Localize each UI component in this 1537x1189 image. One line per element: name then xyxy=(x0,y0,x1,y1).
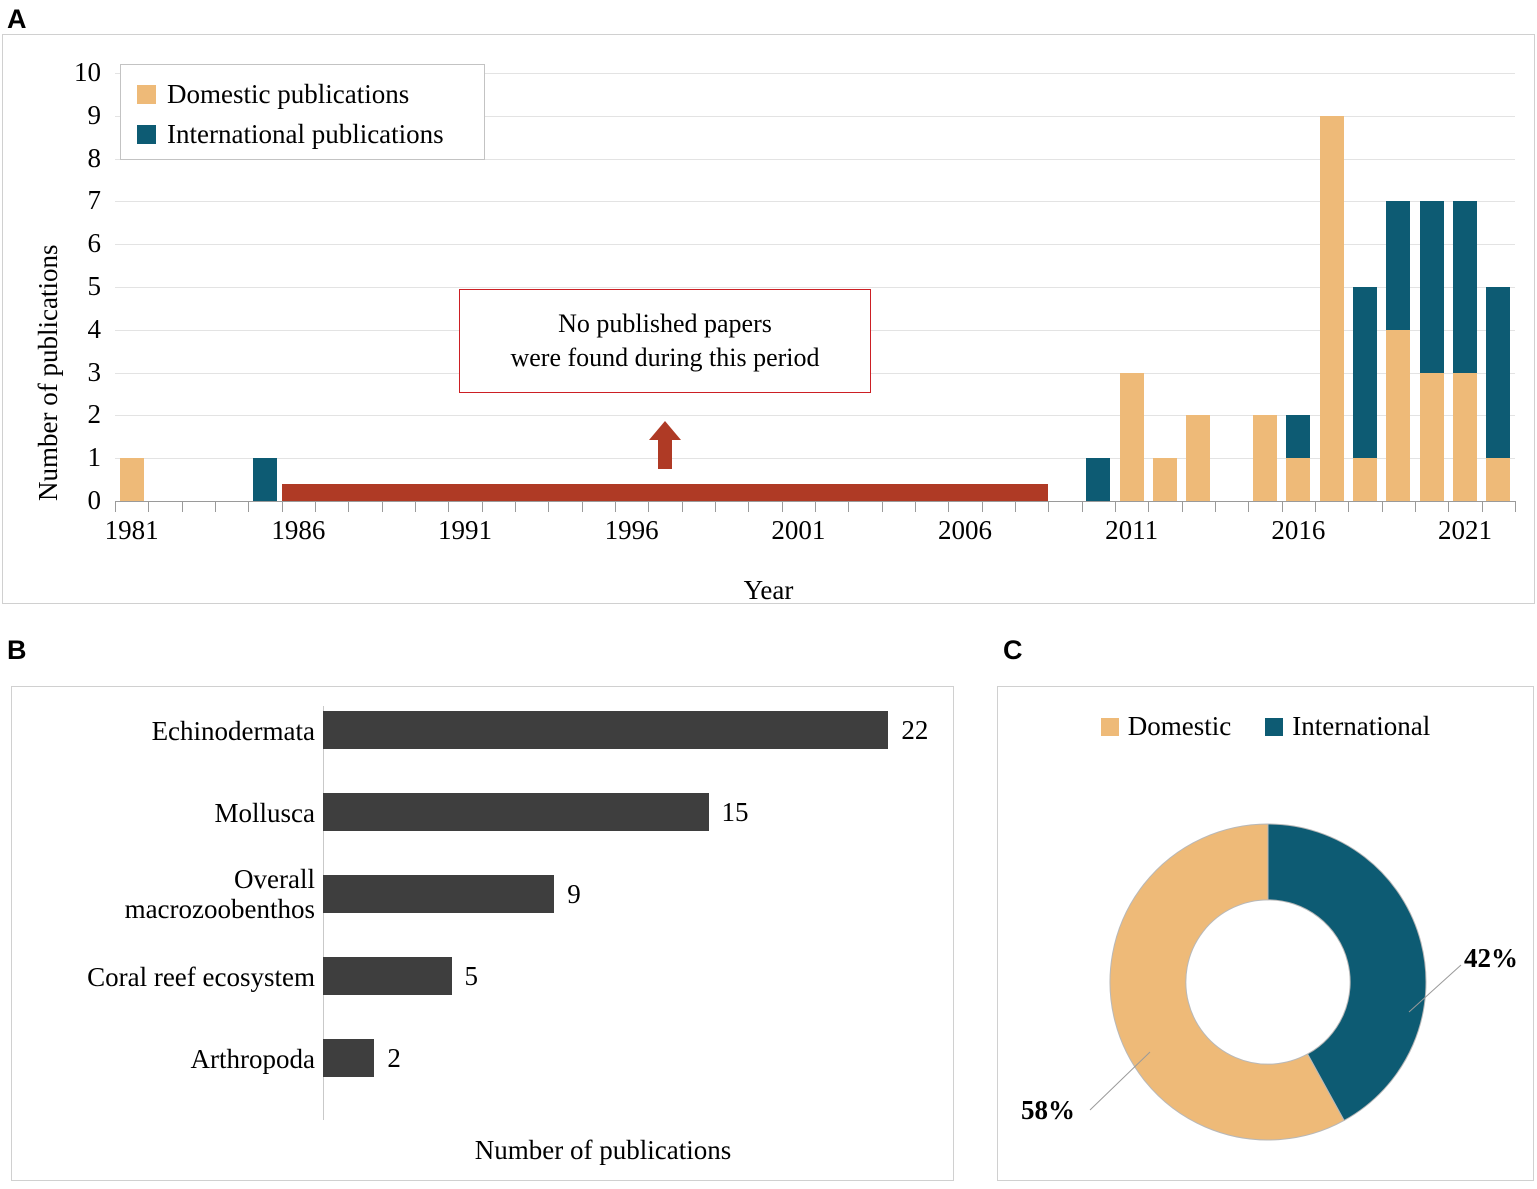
x-tick-a xyxy=(1282,501,1283,512)
x-tick-a xyxy=(815,501,816,512)
bar-b-overall-macrozoobenthos xyxy=(323,875,554,913)
x-tick-a xyxy=(215,501,216,512)
bar-a-2021 xyxy=(1453,201,1477,501)
x-tick-a xyxy=(1315,501,1316,512)
bar-a-2017 xyxy=(1320,116,1344,501)
x-tick-a xyxy=(748,501,749,512)
bar-a-2016 xyxy=(1286,415,1310,501)
x-tick-a xyxy=(1215,501,1216,512)
gridline-a xyxy=(115,287,1515,288)
bar-value-label-b: 15 xyxy=(722,799,749,826)
x-tick-label-a: 2021 xyxy=(1438,517,1492,544)
x-tick-a xyxy=(482,501,483,512)
donut-value-label-domestic: 58% xyxy=(1021,1097,1075,1124)
x-tick-a xyxy=(1348,501,1349,512)
bar-category-label-b: Coral reef ecosystem xyxy=(0,962,315,992)
x-tick-a xyxy=(582,501,583,512)
x-tick-a xyxy=(615,501,616,512)
gridline-a xyxy=(115,244,1515,245)
x-tick-label-a: 1981 xyxy=(105,517,159,544)
x-tick-a xyxy=(382,501,383,512)
x-tick-a xyxy=(282,501,283,512)
x-tick-a xyxy=(1248,501,1249,512)
x-tick-label-a: 2016 xyxy=(1271,517,1325,544)
x-tick-a xyxy=(315,501,316,512)
panel-letter-b: B xyxy=(7,637,27,664)
legend-swatch-domestic xyxy=(137,85,156,104)
bar-segment-domestic xyxy=(1353,458,1377,501)
x-tick-a xyxy=(982,501,983,512)
category-label-line: Arthropoda xyxy=(0,1044,315,1074)
bar-b-echinodermata xyxy=(323,711,888,749)
bar-segment-domestic xyxy=(1186,415,1210,501)
x-tick-a xyxy=(682,501,683,512)
x-tick-a xyxy=(415,501,416,512)
x-tick-a xyxy=(148,501,149,512)
x-tick-label-a: 1996 xyxy=(605,517,659,544)
x-tick-a xyxy=(1182,501,1183,512)
bar-segment-domestic xyxy=(1453,373,1477,501)
legend-swatch-international xyxy=(137,125,156,144)
legend-label-domestic: Domestic publications xyxy=(167,81,409,108)
bar-category-label-b: Echinodermata xyxy=(0,716,315,746)
x-axis-title-a: Year xyxy=(3,575,1534,606)
bar-value-label-b: 5 xyxy=(465,963,479,990)
bar-segment-international xyxy=(1486,287,1510,458)
bar-a-2013 xyxy=(1186,415,1210,501)
bar-segment-international xyxy=(253,458,277,501)
x-tick-a xyxy=(1515,501,1516,512)
legend-item-international: International publications xyxy=(137,114,484,154)
panel-letter-a: A xyxy=(7,6,27,33)
donut-svg xyxy=(998,687,1535,1182)
x-tick-a xyxy=(1415,501,1416,512)
category-label-line: Echinodermata xyxy=(0,716,315,746)
bar-b-mollusca xyxy=(323,793,709,831)
y-tick-label-a: 10 xyxy=(55,59,101,86)
bar-a-2012 xyxy=(1153,458,1177,501)
leader-line-domestic xyxy=(1090,1052,1150,1110)
x-tick-a xyxy=(548,501,549,512)
x-tick-a xyxy=(1082,501,1083,512)
x-tick-a xyxy=(882,501,883,512)
bar-value-label-b: 2 xyxy=(387,1045,401,1072)
x-tick-a xyxy=(948,501,949,512)
bar-segment-domestic xyxy=(1153,458,1177,501)
bar-segment-domestic xyxy=(1420,373,1444,501)
panel-letter-c: C xyxy=(1003,637,1023,664)
bar-a-2019 xyxy=(1386,201,1410,501)
x-tick-a xyxy=(648,501,649,512)
bar-segment-domestic xyxy=(1120,373,1144,501)
bar-b-coral-reef-ecosystem xyxy=(323,957,452,995)
y-tick-label-a: 7 xyxy=(55,187,101,214)
donut-graphic: 42%58% xyxy=(998,687,1533,1180)
bar-category-label-b: Overallmacrozoobenthos xyxy=(0,864,315,924)
bar-a-1981 xyxy=(120,458,144,501)
x-tick-a xyxy=(848,501,849,512)
donut-value-label-international: 42% xyxy=(1464,945,1518,972)
bar-a-2015 xyxy=(1253,415,1277,501)
bar-a-2022 xyxy=(1486,287,1510,501)
x-tick-a xyxy=(715,501,716,512)
x-tick-label-a: 2011 xyxy=(1105,517,1158,544)
bar-category-label-b: Arthropoda xyxy=(0,1044,315,1074)
bar-a-1985 xyxy=(253,458,277,501)
y-tick-label-a: 8 xyxy=(55,145,101,172)
bar-b-arthropoda xyxy=(323,1039,374,1077)
gridline-a xyxy=(115,201,1515,202)
bar-segment-international xyxy=(1086,458,1110,501)
x-tick-a xyxy=(1448,501,1449,512)
bar-segment-international xyxy=(1420,201,1444,372)
bar-segment-international xyxy=(1386,201,1410,329)
category-label-line: macrozoobenthos xyxy=(0,894,315,924)
y-tick-label-a: 9 xyxy=(55,102,101,129)
x-axis-title-b: Number of publications xyxy=(323,1135,883,1166)
x-tick-a xyxy=(115,501,116,512)
legend-label-international: International publications xyxy=(167,121,444,148)
x-tick-a xyxy=(248,501,249,512)
bar-a-2020 xyxy=(1420,201,1444,501)
x-tick-a xyxy=(1115,501,1116,512)
legend-item-domestic: Domestic publications xyxy=(137,74,484,114)
annotation-line-2: were found during this period xyxy=(510,341,819,375)
bar-segment-international xyxy=(1286,415,1310,458)
panel-c-donut-chart: Domestic International 42%58% xyxy=(997,686,1534,1181)
up-arrow-icon xyxy=(648,421,682,469)
bar-value-label-b: 9 xyxy=(567,881,581,908)
bar-segment-domestic xyxy=(120,458,144,501)
x-tick-a xyxy=(915,501,916,512)
y-axis-title-a: Number of publications xyxy=(33,245,64,501)
x-tick-a xyxy=(1382,501,1383,512)
x-tick-a xyxy=(782,501,783,512)
x-tick-label-a: 2006 xyxy=(938,517,992,544)
legend-a: Domestic publications International publ… xyxy=(120,64,485,160)
x-tick-a xyxy=(348,501,349,512)
x-tick-a xyxy=(1015,501,1016,512)
x-tick-label-a: 2001 xyxy=(771,517,825,544)
bar-segment-domestic xyxy=(1386,330,1410,501)
x-tick-a xyxy=(1482,501,1483,512)
bar-segment-domestic xyxy=(1486,458,1510,501)
panel-a-timeline-chart: 012345678910 198119861991199620012006201… xyxy=(2,34,1535,604)
no-papers-annotation: No published papers were found during th… xyxy=(459,289,871,393)
x-tick-a xyxy=(1148,501,1149,512)
category-label-line: Overall xyxy=(0,864,315,894)
plot-area-b: Echinodermata22Mollusca15Overallmacrozoo… xyxy=(12,687,953,1180)
bar-a-2018 xyxy=(1353,287,1377,501)
category-label-line: Coral reef ecosystem xyxy=(0,962,315,992)
bar-value-label-b: 22 xyxy=(901,717,928,744)
bar-segment-domestic xyxy=(1320,116,1344,501)
panel-b-taxa-chart: Echinodermata22Mollusca15Overallmacrozoo… xyxy=(11,686,954,1181)
bar-a-2010 xyxy=(1086,458,1110,501)
category-label-line: Mollusca xyxy=(0,798,315,828)
bar-segment-domestic xyxy=(1286,458,1310,501)
bar-segment-domestic xyxy=(1253,415,1277,501)
bar-category-label-b: Mollusca xyxy=(0,798,315,828)
x-tick-a xyxy=(1048,501,1049,512)
x-tick-label-a: 1986 xyxy=(271,517,325,544)
x-tick-a xyxy=(182,501,183,512)
bar-segment-international xyxy=(1353,287,1377,458)
bar-a-2011 xyxy=(1120,373,1144,501)
annotation-line-1: No published papers xyxy=(558,307,772,341)
x-tick-a xyxy=(515,501,516,512)
bar-segment-international xyxy=(1453,201,1477,372)
no-papers-span-bar xyxy=(282,484,1049,501)
x-tick-label-a: 1991 xyxy=(438,517,492,544)
x-tick-a xyxy=(448,501,449,512)
